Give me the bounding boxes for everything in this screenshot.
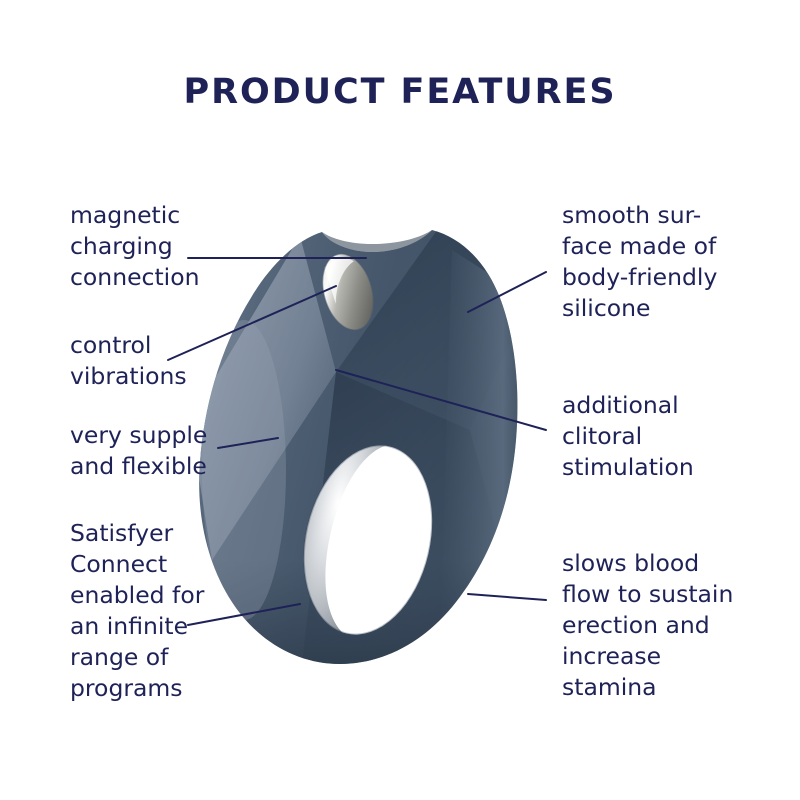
- feature-label-control-vibrations: control vibrations: [70, 330, 187, 392]
- highlight-band-left: [202, 320, 286, 620]
- leader-line-blood: [468, 594, 546, 600]
- feature-label-supple-flexible: very supple and flexible: [70, 420, 207, 482]
- feature-label-clitoral-stimulation: additional clitoral stimulation: [562, 390, 694, 483]
- feature-label-blood-flow: slows blood flow to sustain erection and…: [562, 548, 733, 703]
- product-features-infographic: PRODUCT FEATURES: [0, 0, 800, 800]
- feature-label-magnetic-charging: magnetic charging connection: [70, 200, 199, 293]
- feature-label-satisfyer-connect: Satisfyer Connect enabled for an infinit…: [70, 518, 204, 704]
- feature-label-smooth-surface: smooth sur- face made of body-friendly s…: [562, 200, 717, 324]
